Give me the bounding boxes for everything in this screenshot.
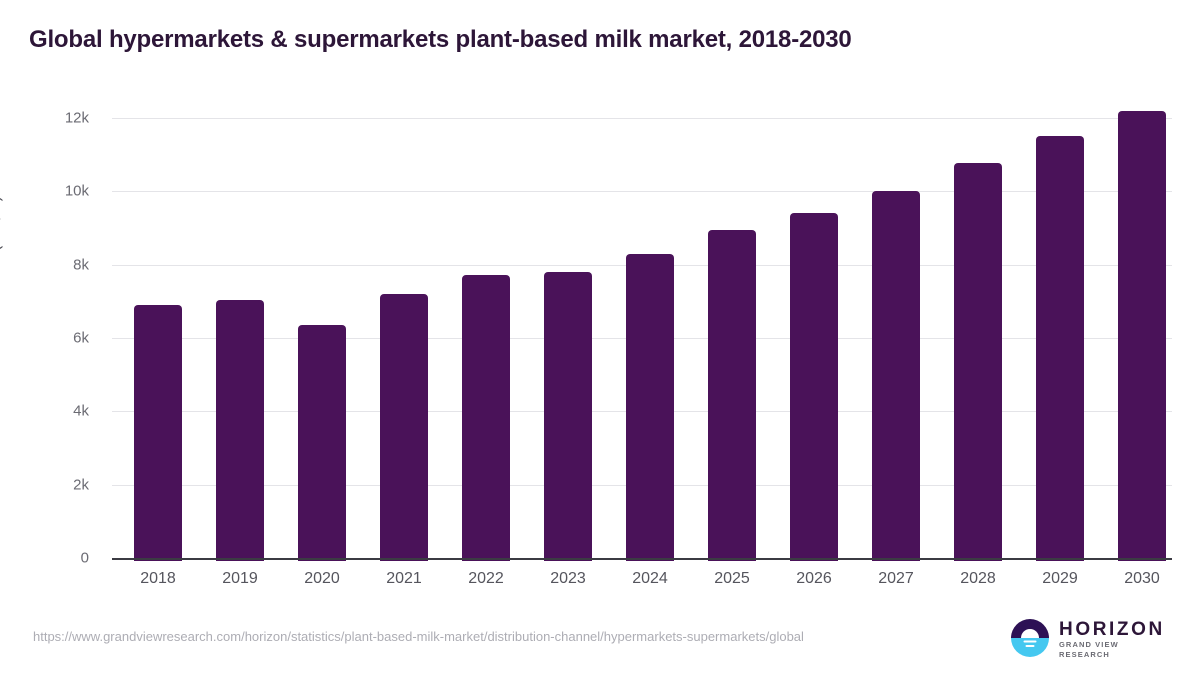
bar-group[interactable] — [527, 118, 609, 561]
bar[interactable] — [298, 325, 346, 562]
x-axis-tick-label: 2019 — [199, 570, 281, 588]
y-axis-tick-label: 6k — [29, 330, 89, 347]
x-axis-tick-label: 2020 — [281, 570, 363, 588]
bar-group[interactable] — [1019, 118, 1101, 561]
horizon-logo-icon — [1010, 618, 1050, 663]
bar[interactable] — [954, 163, 1002, 561]
x-axis-line — [112, 558, 1172, 560]
x-axis-tick-label: 2030 — [1101, 570, 1183, 588]
x-axis-tick-label: 2026 — [773, 570, 855, 588]
bar-group[interactable] — [1101, 118, 1183, 561]
x-axis-tick-label: 2027 — [855, 570, 937, 588]
y-axis-tick-label: 0 — [29, 550, 89, 567]
bar-group[interactable] — [117, 118, 199, 561]
horizon-logo-text: HORIZON GRAND VIEW RESEARCH — [1059, 620, 1170, 660]
bar-group[interactable] — [281, 118, 363, 561]
bar-group[interactable] — [445, 118, 527, 561]
x-axis-tick-label: 2025 — [691, 570, 773, 588]
x-axis-tick-label: 2028 — [937, 570, 1019, 588]
bar[interactable] — [708, 230, 756, 561]
x-axis-tick-label: 2022 — [445, 570, 527, 588]
y-axis-label: Market Size (US$M) — [0, 196, 4, 340]
page-title: Global hypermarkets & supermarkets plant… — [29, 26, 852, 54]
y-axis-tick-label: 4k — [29, 403, 89, 420]
bar-group[interactable] — [199, 118, 281, 561]
bar[interactable] — [626, 254, 674, 561]
plot-area — [112, 118, 1172, 561]
bar-group[interactable] — [609, 118, 691, 561]
bar-group[interactable] — [773, 118, 855, 561]
x-axis-tick-label: 2029 — [1019, 570, 1101, 588]
bar[interactable] — [790, 213, 838, 561]
bar-group[interactable] — [855, 118, 937, 561]
logo-wordmark: HORIZON — [1059, 620, 1170, 640]
bar-group[interactable] — [363, 118, 445, 561]
bar[interactable] — [544, 272, 592, 561]
y-axis-tick-label: 12k — [29, 110, 89, 127]
horizon-logo[interactable]: HORIZON GRAND VIEW RESEARCH — [1010, 618, 1170, 662]
bar[interactable] — [462, 275, 510, 561]
bar[interactable] — [872, 191, 920, 561]
x-axis-tick-label: 2023 — [527, 570, 609, 588]
bar[interactable] — [216, 300, 264, 561]
y-axis-tick-label: 10k — [29, 183, 89, 200]
x-axis-tick-label: 2021 — [363, 570, 445, 588]
bar[interactable] — [134, 305, 182, 561]
y-axis-tick-label: 2k — [29, 476, 89, 493]
chart-page: Global hypermarkets & supermarkets plant… — [0, 0, 1200, 675]
logo-tagline: GRAND VIEW RESEARCH — [1059, 640, 1170, 660]
y-axis-tick-label: 8k — [29, 256, 89, 273]
source-url[interactable]: https://www.grandviewresearch.com/horizo… — [33, 628, 943, 645]
bar-group[interactable] — [691, 118, 773, 561]
bar[interactable] — [1118, 111, 1166, 561]
x-axis-tick-label: 2024 — [609, 570, 691, 588]
bar[interactable] — [1036, 136, 1084, 561]
x-axis-tick-label: 2018 — [117, 570, 199, 588]
bar[interactable] — [380, 294, 428, 561]
bar-group[interactable] — [937, 118, 1019, 561]
